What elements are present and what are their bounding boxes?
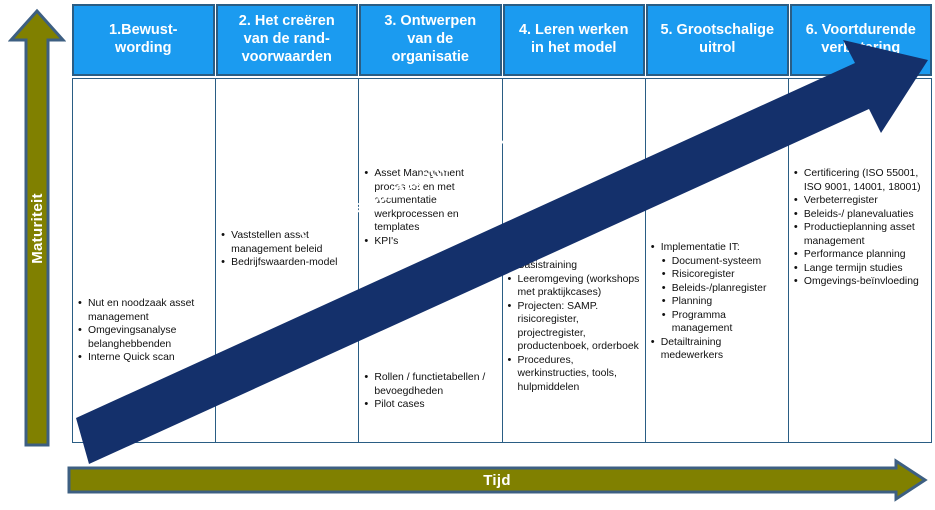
phase-header-2-line2: van de rand- bbox=[239, 31, 335, 49]
list-item: Rollen / functietabellen / bevoegdheden bbox=[363, 371, 496, 398]
phase-header-6-line1: 6. Voortdurende bbox=[806, 22, 916, 40]
sub-list-item: Beleids-/planregister bbox=[661, 282, 783, 296]
phase-6-bullet-list: Certificering (ISO 55001, ISO 9001, 1400… bbox=[793, 167, 926, 289]
sub-list-item: Risicoregister bbox=[661, 268, 783, 282]
maturity-arrow-shape bbox=[11, 11, 63, 445]
phase-header-4-line1: 4. Leren werken bbox=[519, 22, 629, 40]
list-item: Omgevings-beïnvloeding bbox=[793, 275, 926, 289]
phase-column-3: Asset Management proces tot en met docum… bbox=[359, 79, 502, 442]
sub-list-item: Planning bbox=[661, 295, 783, 309]
phase-1-bullet-list: Nut en noodzaak asset management Omgevin… bbox=[77, 297, 210, 365]
phase-header-6-line2: verbetering bbox=[806, 40, 916, 58]
list-item-label: Implementatie IT: bbox=[661, 242, 740, 253]
list-item: Procedures, werkinstructies, tools, hulp… bbox=[507, 354, 640, 395]
phase-header-row: 1.Bewust- wording 2. Het creëren van de … bbox=[72, 4, 932, 76]
phase-column-2: Vaststellen asset management beleid Bedr… bbox=[216, 79, 359, 442]
list-item: Lange termijn studies bbox=[793, 262, 926, 276]
phase-column-4: Basistraining Leeromgeving (workshops me… bbox=[503, 79, 646, 442]
phase-content-grid: Nut en noodzaak asset management Omgevin… bbox=[72, 78, 932, 443]
phase-header-2[interactable]: 2. Het creëren van de rand- voorwaarden bbox=[216, 4, 359, 76]
phase-header-2-line3: voorwaarden bbox=[239, 49, 335, 67]
list-item: Bedrijfswaarden-model bbox=[220, 256, 353, 270]
list-item: Beleids-/ planevaluaties bbox=[793, 208, 926, 222]
list-item: Asset Management proces tot en met docum… bbox=[363, 167, 496, 235]
phase-header-1[interactable]: 1.Bewust- wording bbox=[72, 4, 215, 76]
list-item: Verbeterregister bbox=[793, 194, 926, 208]
phase-5-sub-list: Document-systeem Risicoregister Beleids-… bbox=[661, 255, 783, 336]
phase-header-5-line1: 5. Grootschalige bbox=[660, 22, 774, 40]
maturity-axis-arrow: Maturiteit bbox=[8, 8, 66, 448]
phase-column-5: Implementatie IT: Document-systeem Risic… bbox=[646, 79, 789, 442]
list-item: Productieplanning asset management bbox=[793, 221, 926, 248]
list-item: KPI's bbox=[363, 235, 496, 249]
list-item: Nut en noodzaak asset management bbox=[77, 297, 210, 324]
phase-header-3[interactable]: 3. Ontwerpen van de organisatie bbox=[359, 4, 502, 76]
phase-4-bullet-list: Basistraining Leeromgeving (workshops me… bbox=[507, 259, 640, 394]
sub-list-item: Programma management bbox=[661, 309, 783, 336]
list-item: Omgevingsanalyse belanghebbenden bbox=[77, 324, 210, 351]
phase-header-6[interactable]: 6. Voortdurende verbetering bbox=[790, 4, 933, 76]
list-item: Detailtraining medewerkers bbox=[650, 336, 783, 363]
list-item: Projecten: SAMP. risicoregister, project… bbox=[507, 300, 640, 354]
phase-column-1: Nut en noodzaak asset management Omgevin… bbox=[73, 79, 216, 442]
time-arrow-shape bbox=[69, 461, 925, 499]
phase-5-bullet-list: Implementatie IT: Document-systeem Risic… bbox=[650, 241, 783, 363]
phase-header-2-line1: 2. Het creëren bbox=[239, 13, 335, 31]
phase-3-bullet-list-bottom: Rollen / functietabellen / bevoegdheden … bbox=[363, 371, 496, 412]
phase-header-4-line2: in het model bbox=[519, 40, 629, 58]
phase-header-1-line1: 1.Bewust- bbox=[109, 22, 178, 40]
phase-header-3-line1: 3. Ontwerpen bbox=[384, 13, 476, 31]
phase-header-3-line3: organisatie bbox=[384, 49, 476, 67]
phase-2-bullet-list: Vaststellen asset management beleid Bedr… bbox=[220, 229, 353, 270]
phase-header-5-line2: uitrol bbox=[660, 40, 774, 58]
phase-header-5[interactable]: 5. Grootschalige uitrol bbox=[646, 4, 789, 76]
time-axis-arrow: Tijd bbox=[66, 458, 928, 502]
phase-column-6: Certificering (ISO 55001, ISO 9001, 1400… bbox=[789, 79, 931, 442]
list-item: Implementatie IT: Document-systeem Risic… bbox=[650, 241, 783, 336]
list-item: Certificering (ISO 55001, ISO 9001, 1400… bbox=[793, 167, 926, 194]
phase-3-bullet-list-top: Asset Management proces tot en met docum… bbox=[363, 167, 496, 248]
list-item: Vaststellen asset management beleid bbox=[220, 229, 353, 256]
phase-header-3-line2: van de bbox=[384, 31, 476, 49]
phase-header-1-line2: wording bbox=[109, 40, 178, 58]
list-item: Pilot cases bbox=[363, 398, 496, 412]
phase-header-4[interactable]: 4. Leren werken in het model bbox=[503, 4, 646, 76]
list-item: Basistraining bbox=[507, 259, 640, 273]
diagram-canvas: Maturiteit Tijd 1.Bewust- wording 2. Het… bbox=[0, 0, 935, 510]
list-item: Performance planning bbox=[793, 248, 926, 262]
list-item: Leeromgeving (workshops met praktijkcase… bbox=[507, 273, 640, 300]
list-item: Interne Quick scan bbox=[77, 351, 210, 365]
sub-list-item: Document-systeem bbox=[661, 255, 783, 269]
